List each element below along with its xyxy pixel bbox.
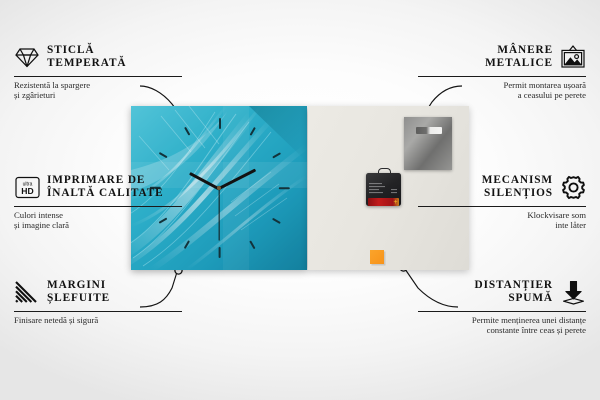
picture-frame-hanger-icon bbox=[560, 44, 586, 70]
feature-header: MÂNERE METALICE bbox=[418, 42, 586, 72]
orange-foam-spacer bbox=[370, 250, 384, 264]
feature-metal-handles: MÂNERE METALICE Permit montarea ușoară a… bbox=[418, 42, 586, 100]
feature-tempered-glass: STICLĂ TEMPERATĂ Rezistentă la spargere … bbox=[14, 42, 182, 100]
feature-title: DISTANȚIER SPUMĂ bbox=[475, 279, 553, 305]
clock-center-pivot bbox=[217, 186, 221, 190]
clock-tick bbox=[279, 187, 290, 189]
feature-divider bbox=[14, 206, 182, 207]
feature-description: Culori intense și imagine clară bbox=[14, 210, 182, 231]
movement-markings bbox=[369, 182, 398, 196]
clock-tick bbox=[219, 118, 221, 129]
feature-description: Finisare netedă și sigură bbox=[14, 315, 182, 325]
feature-hd-print: ultra HD IMPRIMARE DE ÎNALTĂ CALITATE Cu… bbox=[14, 172, 182, 230]
feature-title: MÂNERE METALICE bbox=[485, 44, 553, 70]
aa-battery: + bbox=[368, 198, 399, 206]
movement-body: + bbox=[366, 173, 401, 206]
clock-movement: + bbox=[366, 168, 401, 206]
feature-polished-edges: MARGINI ȘLEFUITE Finisare netedă și sigu… bbox=[14, 277, 182, 325]
feature-description: Rezistentă la spargere și zgârieturi bbox=[14, 80, 182, 101]
clock-tick bbox=[219, 247, 221, 258]
feature-title: MARGINI ȘLEFUITE bbox=[47, 279, 110, 305]
metal-hanger-plate bbox=[404, 117, 452, 170]
feature-divider bbox=[14, 311, 182, 312]
feature-divider bbox=[418, 76, 586, 77]
infographic-canvas: + STICLĂ TEMPERATĂ Rezistentă la spar bbox=[0, 0, 600, 400]
feature-foam-spacer: DISTANȚIER SPUMĂ Permite menținerea unei… bbox=[418, 277, 586, 335]
feature-description: Klockvisare som inte låter bbox=[418, 210, 586, 231]
feature-header: STICLĂ TEMPERATĂ bbox=[14, 42, 182, 72]
battery-polarity-label: + bbox=[393, 200, 398, 205]
feature-title: STICLĂ TEMPERATĂ bbox=[47, 44, 126, 70]
feature-silent-mechanism: MECANISM SILENȚIOS Klockvisare som inte … bbox=[418, 172, 586, 230]
feature-divider bbox=[418, 311, 586, 312]
feature-divider bbox=[14, 76, 182, 77]
hanger-slot bbox=[416, 127, 442, 134]
feature-divider bbox=[418, 206, 586, 207]
clock-second-hand bbox=[218, 188, 219, 240]
gear-icon bbox=[560, 174, 586, 200]
feature-header: ultra HD IMPRIMARE DE ÎNALTĂ CALITATE bbox=[14, 172, 182, 202]
diamond-icon bbox=[14, 44, 40, 70]
feature-header: MECANISM SILENȚIOS bbox=[418, 172, 586, 202]
feature-header: MARGINI ȘLEFUITE bbox=[14, 277, 182, 307]
svg-text:HD: HD bbox=[21, 186, 33, 196]
down-arrow-spacer-icon bbox=[560, 279, 586, 305]
ultra-hd-icon: ultra HD bbox=[14, 174, 40, 200]
feature-title: MECANISM SILENȚIOS bbox=[482, 174, 553, 200]
feature-description: Permit montarea ușoară a ceasului pe per… bbox=[418, 80, 586, 101]
feature-title: IMPRIMARE DE ÎNALTĂ CALITATE bbox=[47, 174, 164, 200]
feature-description: Permite menținerea unei distanțe constan… bbox=[418, 315, 586, 336]
feature-header: DISTANȚIER SPUMĂ bbox=[418, 277, 586, 307]
polished-edges-icon bbox=[14, 279, 40, 305]
